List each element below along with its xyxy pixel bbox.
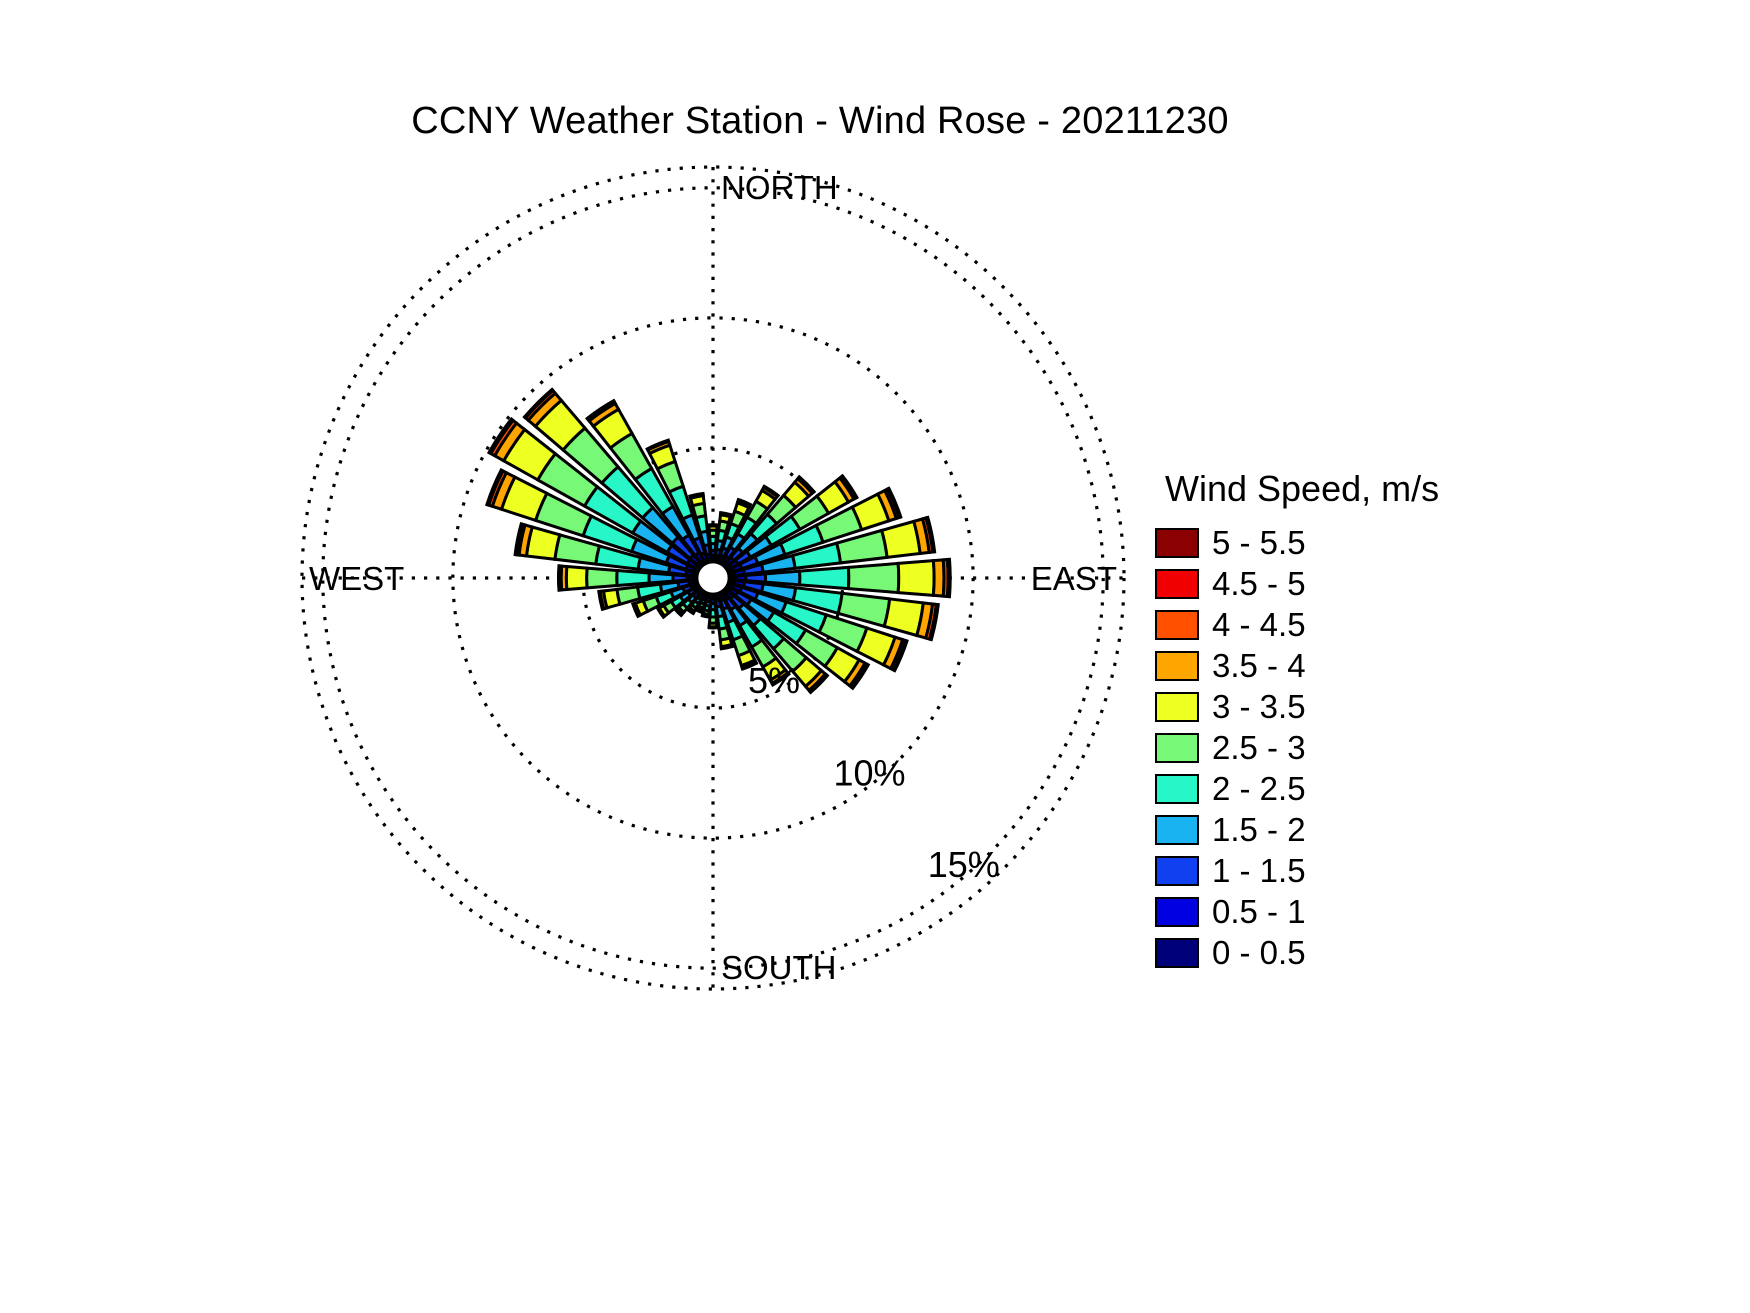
wind-rose-segment bbox=[765, 571, 799, 585]
legend-rows: 5 - 5.54.5 - 54 - 4.53.5 - 43 - 3.52.5 -… bbox=[1155, 522, 1575, 973]
legend-item: 2 - 2.5 bbox=[1155, 768, 1575, 809]
legend-color-swatch bbox=[1155, 938, 1199, 968]
legend-item-label: 0.5 - 1 bbox=[1212, 895, 1306, 928]
radial-tick-label: 10% bbox=[834, 753, 906, 794]
wind-rose-segment bbox=[697, 610, 702, 612]
radial-tick-label: 15% bbox=[928, 844, 1000, 885]
wind-rose-plot: NORTHEASTSOUTHWEST5%10%15% bbox=[0, 0, 1140, 1313]
legend-color-swatch bbox=[1155, 528, 1199, 558]
legend-item-label: 3 - 3.5 bbox=[1212, 690, 1306, 723]
legend-item-label: 2 - 2.5 bbox=[1212, 772, 1306, 805]
legend-item-label: 3.5 - 4 bbox=[1212, 649, 1306, 682]
wind-rose-segment bbox=[587, 568, 617, 588]
wind-rose-segment bbox=[702, 615, 708, 617]
wind-rose-segment bbox=[898, 561, 934, 596]
legend-color-swatch bbox=[1155, 610, 1199, 640]
radial-tick-label: 5% bbox=[748, 660, 800, 701]
legend-item: 1 - 1.5 bbox=[1155, 850, 1575, 891]
legend-color-swatch bbox=[1155, 815, 1199, 845]
legend-item: 2.5 - 3 bbox=[1155, 727, 1575, 768]
legend-color-swatch bbox=[1155, 651, 1199, 681]
legend-item-label: 4.5 - 5 bbox=[1212, 567, 1306, 600]
legend-color-swatch bbox=[1155, 856, 1199, 886]
legend-item: 3 - 3.5 bbox=[1155, 686, 1575, 727]
legend-color-swatch bbox=[1155, 733, 1199, 763]
wind-rose-petals bbox=[487, 389, 950, 692]
legend-item: 5 - 5.5 bbox=[1155, 522, 1575, 563]
axis-label-north: NORTH bbox=[721, 169, 838, 206]
legend-item-label: 2.5 - 3 bbox=[1212, 731, 1306, 764]
axis-label-west: WEST bbox=[309, 560, 404, 597]
legend-item-label: 1 - 1.5 bbox=[1212, 854, 1306, 887]
wind-rose-segment bbox=[617, 570, 649, 585]
axis-label-east: EAST bbox=[1031, 560, 1117, 597]
legend-color-swatch bbox=[1155, 692, 1199, 722]
legend-item: 4 - 4.5 bbox=[1155, 604, 1575, 645]
legend-item: 0.5 - 1 bbox=[1155, 891, 1575, 932]
legend-item-label: 5 - 5.5 bbox=[1212, 526, 1306, 559]
legend-item: 1.5 - 2 bbox=[1155, 809, 1575, 850]
wind-rose-segment bbox=[558, 566, 559, 590]
wind-rose-segment bbox=[721, 513, 731, 516]
legend-color-swatch bbox=[1155, 897, 1199, 927]
legend-title: Wind Speed, m/s bbox=[1165, 468, 1575, 510]
legend-color-swatch bbox=[1155, 774, 1199, 804]
legend-item: 4.5 - 5 bbox=[1155, 563, 1575, 604]
legend-item: 0 - 0.5 bbox=[1155, 932, 1575, 973]
wind-rose-segment bbox=[848, 563, 898, 592]
rose-center-hole bbox=[697, 562, 729, 594]
legend-color-swatch bbox=[1155, 569, 1199, 599]
wind-rose-segment bbox=[566, 566, 587, 589]
legend-item: 3.5 - 4 bbox=[1155, 645, 1575, 686]
axis-label-south: SOUTH bbox=[721, 949, 837, 986]
legend-item-label: 0 - 0.5 bbox=[1212, 936, 1306, 969]
wind-rose-svg: NORTHEASTSOUTHWEST5%10%15% bbox=[0, 0, 1140, 1313]
legend-item-label: 4 - 4.5 bbox=[1212, 608, 1306, 641]
legend: Wind Speed, m/s 5 - 5.54.5 - 54 - 4.53.5… bbox=[1155, 468, 1575, 973]
wind-rose-segment bbox=[649, 573, 673, 583]
legend-item-label: 1.5 - 2 bbox=[1212, 813, 1306, 846]
wind-rose-segment bbox=[800, 567, 849, 588]
wind-rose-segment bbox=[949, 559, 950, 596]
